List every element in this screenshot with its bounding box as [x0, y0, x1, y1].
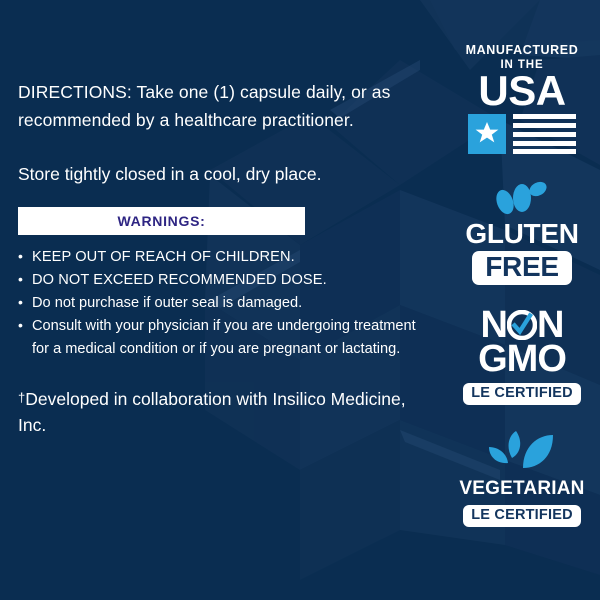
gluten-free-line1: GLUTEN [465, 220, 578, 248]
usa-badge-line1: MANUFACTURED [466, 44, 579, 58]
checkmark-icon [507, 310, 537, 340]
warning-list-item: KEEP OUT OF REACH OF CHILDREN. [18, 246, 418, 268]
warning-list-item: Do not purchase if outer seal is damaged… [18, 292, 418, 314]
directions-text: DIRECTIONS: Take one (1) capsule daily, … [18, 78, 418, 135]
footnote-text: †Developed in collaboration with Insilic… [18, 386, 418, 439]
warning-list-item: Consult with your physician if you are u… [18, 315, 418, 359]
supplement-label-panel: DIRECTIONS: Take one (1) capsule daily, … [0, 0, 600, 600]
leaf-icon [483, 427, 561, 475]
warnings-header-label: WARNINGS: [118, 213, 206, 229]
warning-list-item: DO NOT EXCEED RECOMMENDED DOSE. [18, 269, 418, 291]
gluten-free-line2: FREE [472, 251, 571, 284]
vegetarian-label: VEGETARIAN [459, 479, 584, 500]
footnote-body: Developed in collaboration with Insilico… [18, 389, 406, 435]
badge-non-gmo: N N GMO LE CERTIFIED [456, 307, 588, 405]
vegetarian-certification-badge: LE CERTIFIED [463, 505, 581, 527]
badge-gluten-free: GLUTEN FREE [456, 178, 588, 284]
certification-badge-column: MANUFACTURED IN THE USA [456, 44, 588, 527]
wheat-grain-icon [491, 178, 553, 218]
non-gmo-line2: GMO [478, 341, 566, 377]
warnings-header-bar: WARNINGS: [18, 207, 305, 235]
storage-text: Store tightly closed in a cool, dry plac… [18, 161, 418, 187]
usa-flag-icon [468, 114, 576, 154]
warnings-list: KEEP OUT OF REACH OF CHILDREN. DO NOT EX… [18, 246, 418, 360]
badge-vegetarian: VEGETARIAN LE CERTIFIED [456, 427, 588, 528]
label-text-column: DIRECTIONS: Take one (1) capsule daily, … [18, 78, 418, 456]
usa-badge-word: USA [478, 71, 565, 111]
badge-manufactured-in-usa: MANUFACTURED IN THE USA [456, 44, 588, 154]
non-gmo-certification-badge: LE CERTIFIED [463, 383, 581, 405]
